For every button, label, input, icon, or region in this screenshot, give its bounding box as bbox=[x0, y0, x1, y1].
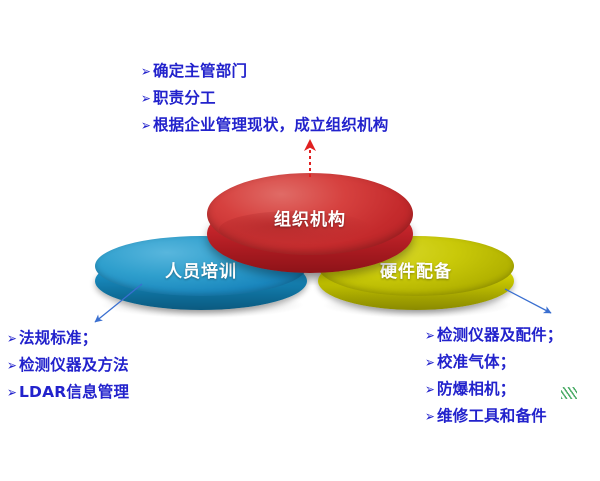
left-connector-arrow bbox=[95, 284, 142, 322]
connector-arrows bbox=[0, 0, 600, 481]
green-hatch-artifact bbox=[561, 387, 577, 399]
diagram-canvas: ➢ 确定主管部门 ➢ 职责分工 ➢ 根据企业管理现状，成立组织机构 ➢ 法规标准… bbox=[0, 0, 600, 481]
right-connector-arrow bbox=[505, 289, 551, 313]
